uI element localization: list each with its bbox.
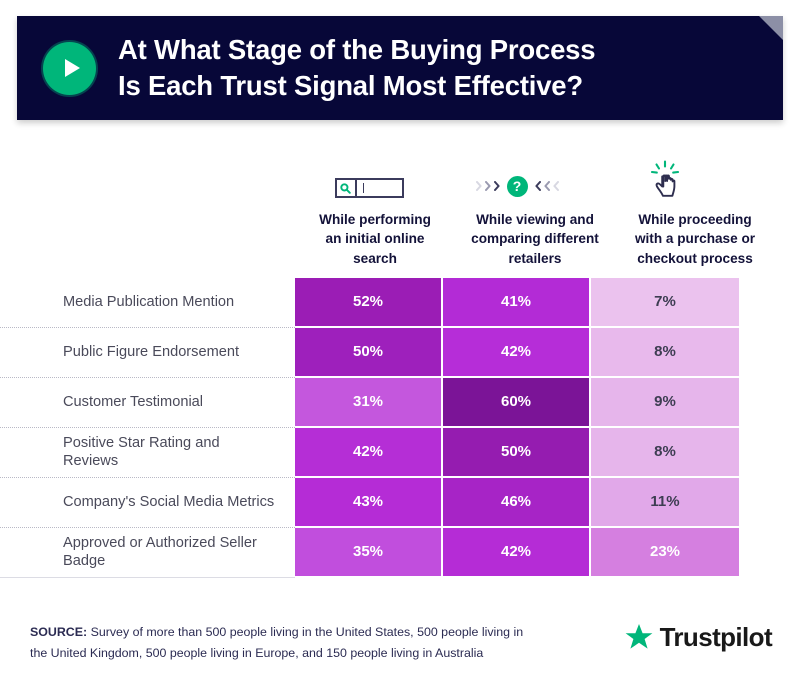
title-banner: At What Stage of the Buying Process Is E… <box>17 16 783 120</box>
column-header-checkout: While proceeding with a purchase or chec… <box>615 198 775 268</box>
column-icon-checkout <box>591 150 739 198</box>
chevron-left-faint-icon <box>553 181 559 191</box>
play-circle-icon <box>43 42 96 95</box>
matrix-cell: 43% <box>295 478 443 526</box>
row-label: Approved or Authorized Seller Badge <box>0 528 295 578</box>
trust-signal-matrix: ? While performing an init <box>0 150 800 578</box>
table-row: Company's Social Media Metrics43%46%11% <box>0 478 800 528</box>
column-header-search: While performing an initial online searc… <box>295 198 455 268</box>
row-label: Company's Social Media Metrics <box>0 478 295 528</box>
search-box-icon <box>335 178 404 198</box>
source-label: SOURCE: <box>30 625 87 639</box>
matrix-cell: 23% <box>591 528 739 576</box>
chevron-right-icon <box>494 181 500 191</box>
column-headers-row: While performing an initial online searc… <box>0 198 800 268</box>
chevron-right-faint-icon <box>476 181 482 191</box>
table-row: Approved or Authorized Seller Badge35%42… <box>0 528 800 578</box>
text-cursor-icon <box>363 183 364 193</box>
matrix-cell: 50% <box>295 328 443 376</box>
source-text: Survey of more than 500 people living in… <box>30 625 523 660</box>
matrix-cell: 46% <box>443 478 591 526</box>
matrix-cell: 7% <box>591 278 739 326</box>
source-note: SOURCE: Survey of more than 500 people l… <box>30 622 540 665</box>
matrix-cell: 31% <box>295 378 443 426</box>
matrix-cell: 50% <box>443 428 591 476</box>
play-triangle-icon <box>65 59 80 77</box>
matrix-cell: 42% <box>295 428 443 476</box>
matrix-cell: 41% <box>443 278 591 326</box>
magnifier-icon <box>337 180 357 196</box>
table-row: Public Figure Endorsement50%42%8% <box>0 328 800 378</box>
chevron-left-icon <box>535 181 541 191</box>
matrix-cell: 42% <box>443 528 591 576</box>
compare-question-icon: ? <box>476 174 559 198</box>
question-mark-icon: ? <box>507 176 528 197</box>
column-icon-compare: ? <box>443 150 591 198</box>
matrix-cell: 8% <box>591 328 739 376</box>
matrix-cell: 8% <box>591 428 739 476</box>
chevron-right-mid-icon <box>485 181 491 191</box>
click-hand-icon <box>648 160 682 198</box>
table-row: Media Publication Mention52%41%7% <box>0 278 800 328</box>
trustpilot-logo: Trustpilot <box>624 622 772 653</box>
matrix-cell: 52% <box>295 278 443 326</box>
row-label: Positive Star Rating and Reviews <box>0 428 295 478</box>
matrix-cell: 60% <box>443 378 591 426</box>
row-label: Customer Testimonial <box>0 378 295 428</box>
column-icons-row: ? <box>0 150 800 198</box>
column-icon-search <box>295 150 443 198</box>
matrix-cell: 11% <box>591 478 739 526</box>
matrix-rows: Media Publication Mention52%41%7%Public … <box>0 278 800 578</box>
trustpilot-star-icon <box>624 623 654 652</box>
footer: SOURCE: Survey of more than 500 people l… <box>0 604 800 682</box>
page-title: At What Stage of the Buying Process Is E… <box>118 32 595 105</box>
matrix-cell: 42% <box>443 328 591 376</box>
trustpilot-wordmark: Trustpilot <box>660 622 772 653</box>
column-header-compare: While viewing and comparing different re… <box>455 198 615 268</box>
row-label: Public Figure Endorsement <box>0 328 295 378</box>
table-row: Customer Testimonial31%60%9% <box>0 378 800 428</box>
row-label: Media Publication Mention <box>0 278 295 328</box>
chevron-left-mid-icon <box>544 181 550 191</box>
table-row: Positive Star Rating and Reviews42%50%8% <box>0 428 800 478</box>
matrix-cell: 9% <box>591 378 739 426</box>
matrix-cell: 35% <box>295 528 443 576</box>
